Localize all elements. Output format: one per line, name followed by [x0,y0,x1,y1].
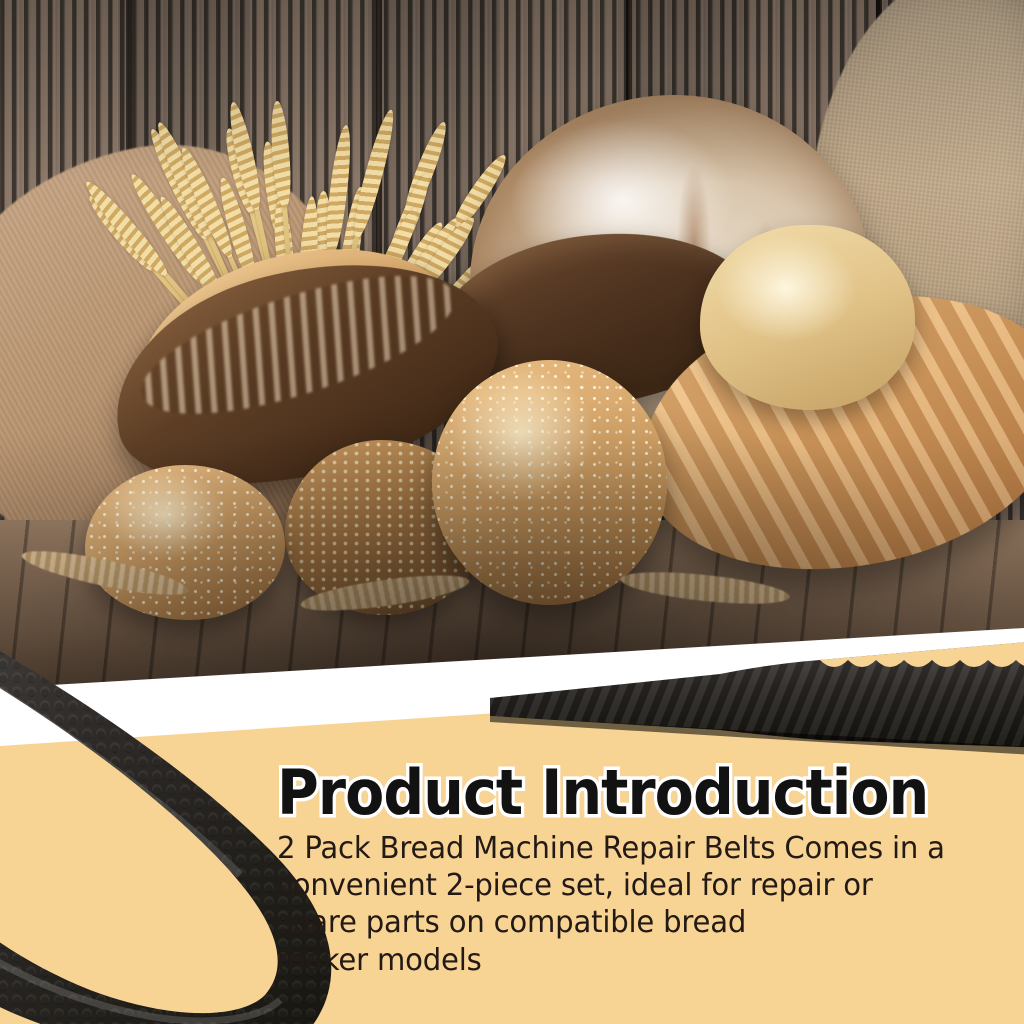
bakery-bread-assortment-photo [0,0,1024,700]
product-description: 2 Pack Bread Machine Repair Belts Comes … [277,830,995,979]
description-line: 2 Pack Bread Machine Repair Belts Comes … [277,830,995,867]
description-line: spare parts on compatible bread [277,904,995,941]
text-block: Product Introduction 2 Pack Bread Machin… [277,762,1017,979]
timing-belt-strip-right [470,620,1024,770]
photo-vignette [0,0,1024,700]
description-line: convenient 2-piece set, ideal for repair… [277,867,995,904]
page-title: Product Introduction [277,762,958,824]
description-line: maker models [277,942,995,979]
product-banner: Product Introduction 2 Pack Bread Machin… [0,0,1024,1024]
